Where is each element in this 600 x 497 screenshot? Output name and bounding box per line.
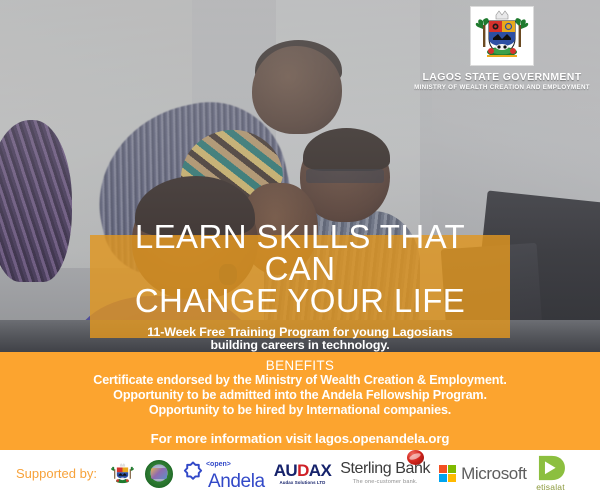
lagos-state-crest-logo[interactable] xyxy=(109,460,136,488)
benefits-item: Certificate endorsed by the Ministry of … xyxy=(0,373,600,388)
andela-word: Andela xyxy=(208,472,265,491)
audax-word-part-1: AU xyxy=(274,461,297,480)
headline-line-2: CHANGE YOUR LIFE xyxy=(135,282,465,319)
sponsor-strip: Supported by: xyxy=(0,450,600,497)
poster: LAGOS STATE GOVERNMENT MINISTRY OF WEALT… xyxy=(0,0,600,497)
headline-sub-line-1: 11-Week Free Training Program for young … xyxy=(147,325,452,339)
government-branding: LAGOS STATE GOVERNMENT MINISTRY OF WEALT… xyxy=(414,6,590,91)
andela-logo[interactable]: <open> Andela xyxy=(182,461,265,487)
audax-word-part-2: D xyxy=(297,461,309,480)
sponsor-logo-row: <open> Andela AUDAX Audax Solutions LTD … xyxy=(109,455,600,492)
cta-url[interactable]: For more information visit lagos.openand… xyxy=(0,431,600,446)
andela-open-superscript: <open> xyxy=(206,461,231,468)
sterling-bank-logo[interactable]: Sterling Bank The one-customer bank. xyxy=(340,461,430,486)
benefits-band: BENEFITS Certificate endorsed by the Min… xyxy=(0,352,600,450)
etisalat-word: etisalat xyxy=(536,483,565,492)
microsoft-squares-icon xyxy=(439,465,456,482)
audax-word-part-3: AX xyxy=(309,461,331,480)
headline-sub-line-2: building careers in technology. xyxy=(210,338,389,352)
headline-subtitle: 11-Week Free Training Program for young … xyxy=(90,326,510,353)
microsoft-word: Microsoft xyxy=(461,464,526,484)
etisalat-logo[interactable]: etisalat xyxy=(536,455,566,492)
supported-by-label: Supported by: xyxy=(16,466,97,481)
lagos-state-coat-of-arms-icon xyxy=(470,6,534,66)
etisalat-mark-icon xyxy=(536,455,566,481)
audax-logo[interactable]: AUDAX Audax Solutions LTD xyxy=(274,462,331,485)
benefits-item: Opportunity to be admitted into the Ande… xyxy=(0,388,600,403)
andela-wordmark: <open> Andela xyxy=(208,461,265,487)
ministry-seal-icon xyxy=(145,460,173,488)
headline-banner: LEARN SKILLS THAT CAN CHANGE YOUR LIFE 1… xyxy=(90,235,510,338)
headline-line-1: LEARN SKILLS THAT CAN xyxy=(135,218,465,287)
government-name: LAGOS STATE GOVERNMENT xyxy=(414,71,590,83)
andela-star-icon xyxy=(182,461,204,483)
microsoft-logo[interactable]: Microsoft xyxy=(439,464,526,484)
audax-wordmark: AUDAX xyxy=(274,462,331,479)
headline-title: LEARN SKILLS THAT CAN CHANGE YOUR LIFE xyxy=(90,221,510,318)
ministry-seal-logo[interactable] xyxy=(145,460,173,488)
government-ministry: MINISTRY OF WEALTH CREATION AND EMPLOYME… xyxy=(414,84,590,91)
benefits-item: Opportunity to be hired by International… xyxy=(0,403,600,418)
sterling-tagline: The one-customer bank. xyxy=(353,480,418,486)
audax-tagline: Audax Solutions LTD xyxy=(279,481,325,485)
benefits-title: BENEFITS xyxy=(0,352,600,373)
